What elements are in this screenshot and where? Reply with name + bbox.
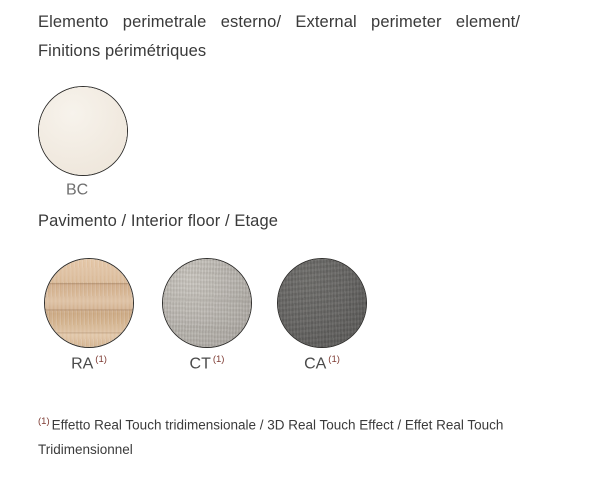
footnote-marker-ca: (1) <box>328 354 340 365</box>
swatch-fill-light-concrete <box>163 259 251 347</box>
footnote-marker: (1) <box>38 416 50 427</box>
swatch-code-ra: RA <box>71 355 93 372</box>
color-swatch-circle <box>162 258 252 348</box>
swatch-fill-oak-wood <box>45 259 133 347</box>
footnote-marker-ct: (1) <box>213 354 225 365</box>
section-heading-perimeter: Elemento perimetrale esterno/ External p… <box>38 8 520 66</box>
swatch-code-ct: CT <box>190 355 211 372</box>
section-heading-floor: Pavimento / Interior floor / Etage <box>38 207 520 236</box>
swatch-label-ct: CT(1) <box>162 354 252 373</box>
swatch-code-bc: BC <box>66 181 88 198</box>
swatch-ct[interactable]: CT(1) <box>162 258 252 348</box>
footnote-marker-ra: (1) <box>95 354 107 365</box>
finishes-legend-page: Elemento perimetrale esterno/ External p… <box>0 0 600 492</box>
swatch-bc[interactable]: BC <box>38 86 128 176</box>
swatch-label-ra: RA(1) <box>44 354 134 373</box>
color-swatch-circle <box>277 258 367 348</box>
swatch-fill-cream <box>39 87 127 175</box>
swatch-ra[interactable]: RA(1) <box>44 258 134 348</box>
footnote: (1)Effetto Real Touch tridimensionale / … <box>38 410 508 462</box>
swatch-fill-dark-concrete <box>278 259 366 347</box>
swatch-label-bc: BC <box>38 180 156 199</box>
color-swatch-circle <box>38 86 128 176</box>
footnote-text: Effetto Real Touch tridimensionale / 3D … <box>38 418 503 457</box>
swatch-code-ca: CA <box>304 355 326 372</box>
swatch-label-ca: CA(1) <box>277 354 367 373</box>
color-swatch-circle <box>44 258 134 348</box>
swatch-ca[interactable]: CA(1) <box>277 258 367 348</box>
